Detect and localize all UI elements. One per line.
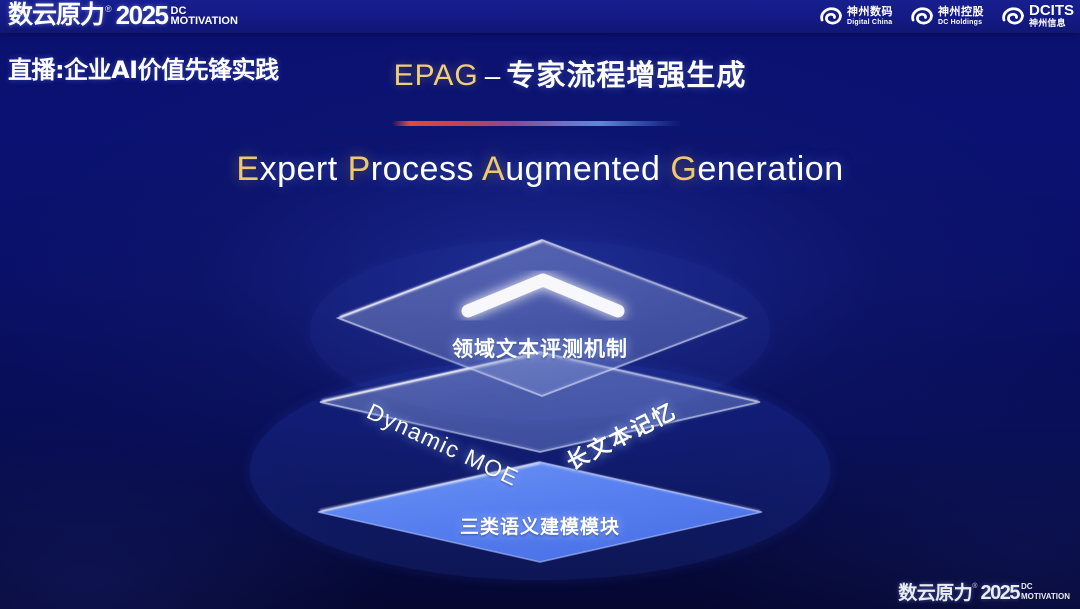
diagram-label-top: 领域文本评测机制 (0, 333, 1080, 363)
watermark-dc-motivation: DC MOTIVATION (1021, 582, 1070, 601)
title-acronym: EPAG (394, 59, 479, 92)
title-dash: – (485, 60, 501, 91)
subtitle-word-generation: eneration (697, 150, 843, 188)
subtitle-initial-a: A (482, 150, 505, 188)
brand-motivation-text: MOTIVATION (171, 17, 238, 26)
partner-logo-digital-china: 神州数码 Digital China (818, 5, 893, 27)
partner-logo-dcits: DCITS 神州信息 (1000, 3, 1074, 29)
partner-logo-dc-holdings: 神州控股 DC Holdings (909, 5, 984, 27)
subtitle-word-expert: xpert (260, 150, 348, 188)
swirl-icon (1000, 5, 1025, 27)
subtitle-word-process: rocess (371, 150, 482, 188)
chevron-up-icon (468, 280, 618, 311)
brand-year: 2025 (116, 2, 168, 28)
swirl-icon (818, 5, 843, 27)
brand-registered-mark: ® (105, 1, 112, 17)
subtitle-initial-p: P (348, 150, 371, 188)
partner-name-cn: 神州控股 (938, 6, 984, 17)
partner-name-cn: 神州数码 (847, 6, 893, 17)
brand-logo: 数云原力 ® 2025 DC MOTIVATION (8, 2, 238, 28)
partner-name-en: Digital China (847, 19, 893, 26)
header-bar: 数云原力 ® 2025 DC MOTIVATION 神州数码 Digital C… (0, 0, 1080, 33)
partner-name-cn: DCITS (1029, 3, 1074, 18)
page-title: EPAG–专家流程增强生成 (0, 52, 1080, 94)
subtitle-initial-e: E (236, 150, 259, 188)
watermark-registered-mark: ® (972, 579, 977, 595)
partner-name-en: 神州信息 (1029, 20, 1074, 29)
title-chinese: 专家流程增强生成 (506, 58, 746, 92)
partner-logo-group: 神州数码 Digital China 神州控股 DC Holdings (818, 3, 1074, 29)
title-divider (392, 121, 682, 126)
partner-name-en: DC Holdings (938, 19, 984, 26)
watermark-dc-text: DC (1021, 582, 1070, 591)
slide-canvas: 数云原力 ® 2025 DC MOTIVATION 神州数码 Digital C… (0, 0, 1080, 609)
diagram-label-middle-right: 长文本记忆 (560, 394, 681, 477)
subtitle-word-augmented: ugmented (505, 150, 670, 188)
diagram-label-middle-left: Dynamic MOE (363, 398, 524, 492)
diagram-layer-middle (320, 352, 760, 452)
swirl-icon (909, 5, 934, 27)
watermark-motivation-text: MOTIVATION (1021, 592, 1070, 601)
brand-dc-motivation: DC MOTIVATION (171, 7, 238, 26)
diagram-label-bottom: 三类语义建模模块 (0, 512, 1080, 539)
watermark-year: 2025 (980, 583, 1019, 603)
english-subtitle: Expert Process Augmented Generation (0, 150, 1080, 189)
subtitle-initial-g: G (670, 150, 697, 188)
watermark-logo: 数云原力 ® 2025 DC MOTIVATION (898, 583, 1070, 603)
brand-name-cn: 数云原力 (8, 2, 104, 28)
watermark-name-cn: 数云原力 (898, 583, 972, 603)
diagram-layer-top (338, 240, 746, 396)
